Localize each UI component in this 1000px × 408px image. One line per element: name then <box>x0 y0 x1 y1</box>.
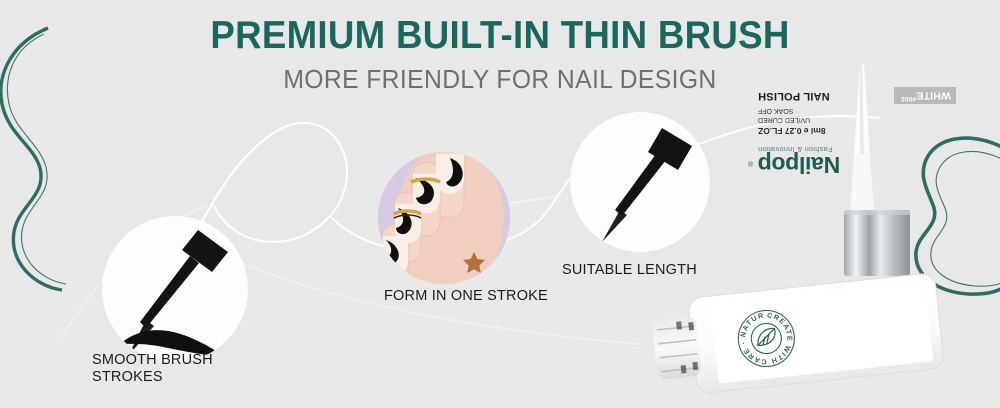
brand-registered-mark: ® <box>748 159 753 166</box>
cure-info: UV/LED CURED SOAK OFF <box>758 105 810 124</box>
page-title: PREMIUM BUILT-IN THIN BRUSH <box>30 14 970 58</box>
brand-tagline: Fashion & Innovation <box>758 145 832 154</box>
bottle-body: CREATE WITH CARE · NATURE BASED · <box>650 273 944 398</box>
brush-applicator-icon <box>102 216 248 362</box>
cure-line-1: UV/LED CURED <box>758 115 810 124</box>
feature-caption-smooth-brush: SMOOTH BRUSH STROKES <box>92 352 213 386</box>
feature-circle-smooth-brush <box>102 216 248 362</box>
shade-name: WHITE <box>916 90 951 102</box>
shade-number: #002 <box>901 95 916 102</box>
bottle-label-text: Nailpop ® Fashion & Innovation 8ml e 0.2… <box>756 72 956 176</box>
product-type: NAIL POLISH <box>758 90 830 102</box>
product-bottle: CREATE WITH CARE · NATURE BASED · Nailpo… <box>648 62 1000 408</box>
bottle-cap <box>844 210 910 276</box>
volume-text: 8ml e 0.27 FL.OZ <box>758 126 826 136</box>
shade-badge: WHITE#002 <box>894 88 956 105</box>
feature-caption-form-one-stroke: FORM IN ONE STROKE <box>384 288 548 305</box>
feature-circle-nail-art <box>378 152 510 284</box>
brand-name: Nailpop <box>758 151 840 178</box>
product-feature-banner: PREMIUM BUILT-IN THIN BRUSH MORE FRIENDL… <box>0 0 1000 408</box>
cure-line-2: SOAK OFF <box>758 105 810 114</box>
manicured-hand-photo <box>378 152 510 284</box>
bottle-neck <box>652 316 702 380</box>
